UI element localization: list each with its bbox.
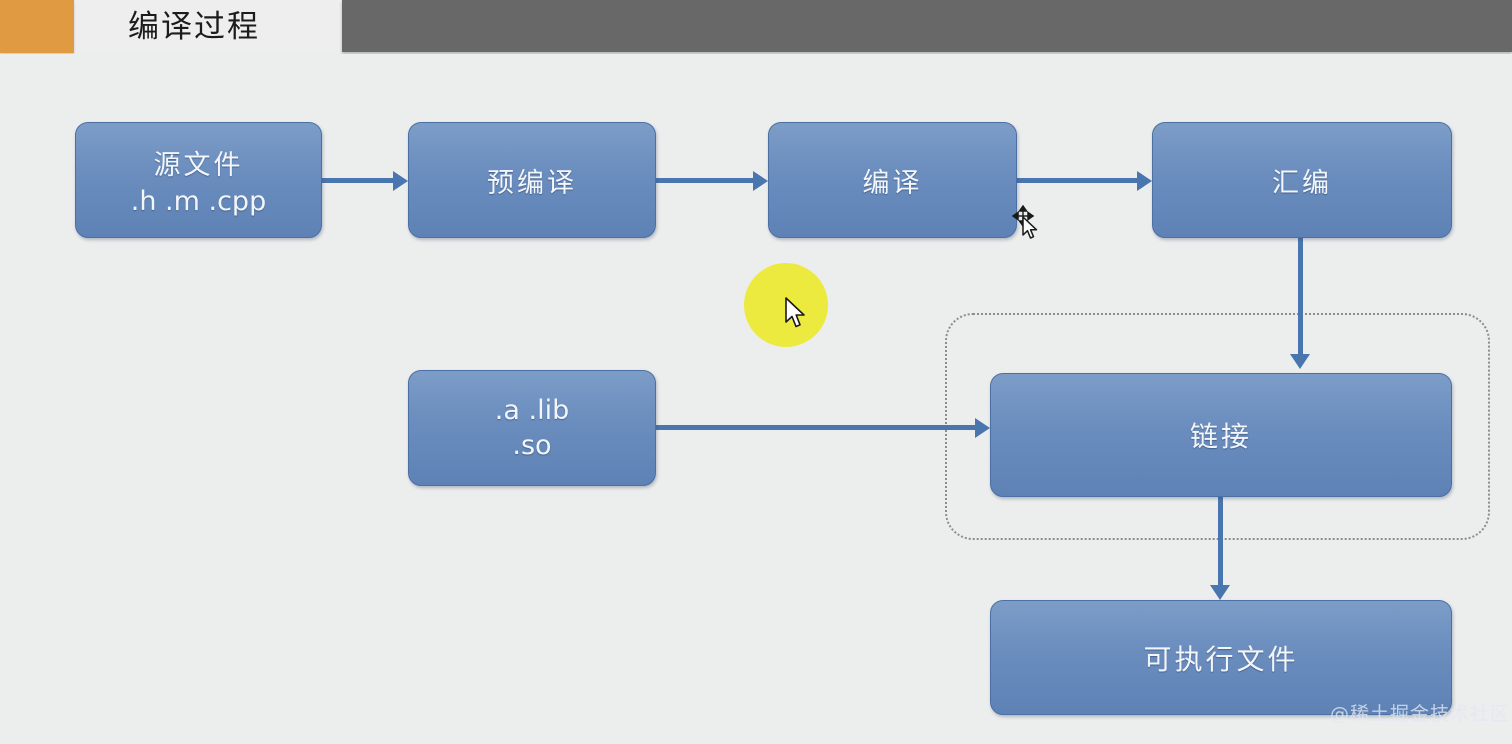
arrowhead-precompile-to-compile bbox=[753, 171, 768, 191]
connector-precompile-to-compile bbox=[656, 178, 753, 183]
node-assemble-label: 汇编 bbox=[1272, 161, 1332, 200]
watermark-text: @稀土掘金技术社区 bbox=[1330, 699, 1510, 726]
node-source-file-line2: .h .m .cpp bbox=[131, 186, 266, 217]
slide-header: 编译过程 bbox=[0, 0, 1512, 54]
node-source-file[interactable]: 源文件 .h .m .cpp bbox=[75, 122, 322, 238]
node-source-file-line1: 源文件 bbox=[154, 143, 244, 182]
node-compile[interactable]: 编译 bbox=[768, 122, 1017, 238]
page-title: 编译过程 bbox=[128, 6, 260, 48]
connector-source-to-precompile bbox=[322, 178, 393, 183]
connector-assemble-to-link bbox=[1298, 238, 1303, 354]
node-link-label: 链接 bbox=[1190, 415, 1252, 455]
arrowhead-compile-to-assemble bbox=[1137, 171, 1152, 191]
arrowhead-assemble-to-link bbox=[1290, 354, 1310, 369]
slide-screen: 编译过程 源文件 .h .m .cpp 预编译 编译 汇编 bbox=[0, 0, 1512, 744]
node-link[interactable]: 链接 bbox=[990, 373, 1452, 497]
click-highlight-halo bbox=[744, 263, 828, 347]
arrowhead-source-to-precompile bbox=[393, 171, 408, 191]
node-executable-file[interactable]: 可执行文件 bbox=[990, 600, 1452, 715]
diagram-canvas: 源文件 .h .m .cpp 预编译 编译 汇编 .a .lib .so 链接 … bbox=[0, 54, 1512, 744]
connector-link-to-executable bbox=[1218, 497, 1223, 585]
node-executable-label: 可执行文件 bbox=[1143, 638, 1298, 678]
node-precompile-label: 预编译 bbox=[487, 161, 577, 200]
header-orange-accent bbox=[0, 0, 74, 53]
connector-compile-to-assemble bbox=[1017, 178, 1137, 183]
node-assemble[interactable]: 汇编 bbox=[1152, 122, 1452, 238]
node-libs-line2: .so bbox=[512, 430, 551, 461]
arrowhead-link-to-executable bbox=[1210, 585, 1230, 600]
node-static-dynamic-libs[interactable]: .a .lib .so bbox=[408, 370, 656, 486]
node-libs-line1: .a .lib bbox=[495, 395, 569, 426]
node-precompile[interactable]: 预编译 bbox=[408, 122, 656, 238]
header-gray-bar bbox=[342, 0, 1512, 52]
arrowhead-libs-to-link bbox=[975, 418, 990, 438]
connector-libs-to-link bbox=[656, 425, 975, 430]
node-compile-label: 编译 bbox=[863, 161, 923, 200]
